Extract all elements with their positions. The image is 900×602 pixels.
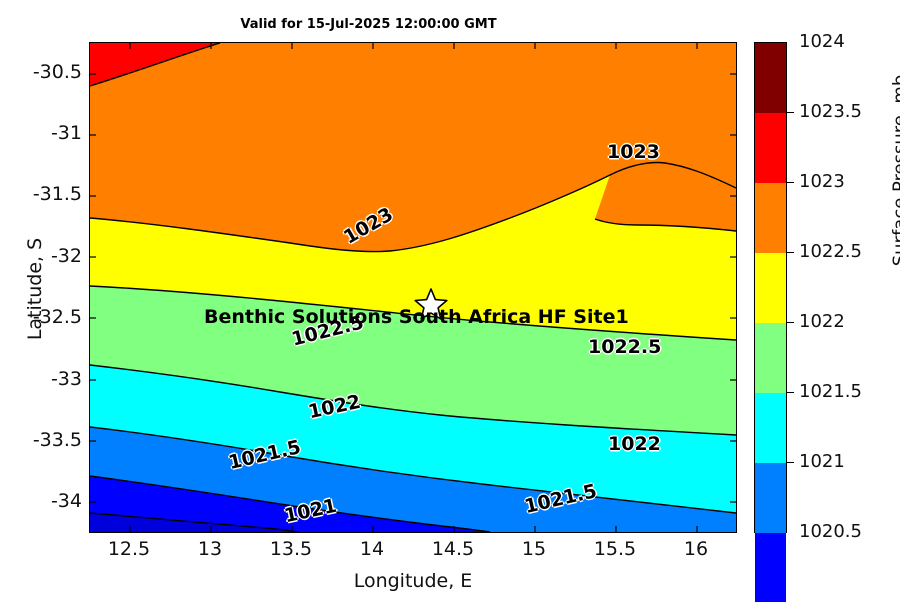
- x-axis-label: Longitude, E: [89, 570, 737, 592]
- colorbar-seg-1022-1022p5: [755, 253, 786, 323]
- contour-field: [90, 43, 736, 532]
- colorbar-tick-1023: 1023: [799, 173, 845, 191]
- colorbar-seg-1021p5-1022: [755, 323, 786, 393]
- contour-plot-figure: Valid for 15-Jul-2025 12:00:00 GMT: [0, 0, 900, 600]
- y-tick-1: -31: [2, 124, 82, 143]
- site-label: Benthic Solutions South Africa HF Site1: [204, 306, 629, 328]
- contour-label-1022-e: 1022: [608, 433, 661, 455]
- colorbar-seg-below-1020p5: [755, 533, 786, 602]
- colorbar-tick-1021p5: 1021.5: [799, 383, 862, 401]
- colorbar-tick-1023p5: 1023.5: [799, 103, 862, 121]
- y-tick-7: -34: [2, 492, 82, 511]
- colorbar: [754, 42, 787, 533]
- colorbar-notch-2: [787, 252, 794, 253]
- x-tick-3: 14: [332, 540, 412, 559]
- x-tick-0: 12.5: [89, 540, 169, 559]
- colorbar-tick-1022: 1022: [799, 313, 845, 331]
- x-tick-6: 15.5: [575, 540, 655, 559]
- y-axis-label: Latitude, S: [24, 159, 46, 419]
- colorbar-tick-1022p5: 1022.5: [799, 243, 862, 261]
- contour-label-1022p5-e: 1022.5: [588, 336, 661, 358]
- colorbar-tick-1020p5: 1020.5: [799, 523, 862, 541]
- colorbar-notch-5: [787, 462, 794, 463]
- plot-area: [89, 42, 737, 533]
- x-tick-2: 13.5: [251, 540, 331, 559]
- colorbar-ticklabels: 1024 1023.5 1023 1022.5 1022 1021.5 1021…: [787, 42, 897, 533]
- y-tick-6: -33.5: [2, 431, 82, 450]
- colorbar-notch-4: [787, 392, 794, 393]
- x-tick-7: 16: [656, 540, 736, 559]
- x-tick-5: 15: [494, 540, 574, 559]
- contour-label-1023-e: 1023: [607, 141, 660, 163]
- y-tick-0: -30.5: [2, 63, 82, 82]
- colorbar-label: Surface Pressure, mb: [890, 41, 900, 301]
- colorbar-notch-3: [787, 322, 794, 323]
- colorbar-seg-1020p5-1021: [755, 463, 786, 533]
- plot-title: Valid for 15-Jul-2025 12:00:00 GMT: [0, 17, 737, 32]
- colorbar-seg-1021-1021p5: [755, 393, 786, 463]
- x-tick-4: 14.5: [413, 540, 493, 559]
- colorbar-tick-1021: 1021: [799, 453, 845, 471]
- colorbar-seg-1022p5-1023: [755, 183, 786, 253]
- colorbar-seg-1023p5-1024: [755, 43, 786, 113]
- colorbar-tick-1024: 1024: [799, 33, 845, 51]
- colorbar-seg-1023-1023p5: [755, 113, 786, 183]
- x-tick-1: 13: [170, 540, 250, 559]
- colorbar-notch-0: [787, 112, 794, 113]
- colorbar-notch-1: [787, 182, 794, 183]
